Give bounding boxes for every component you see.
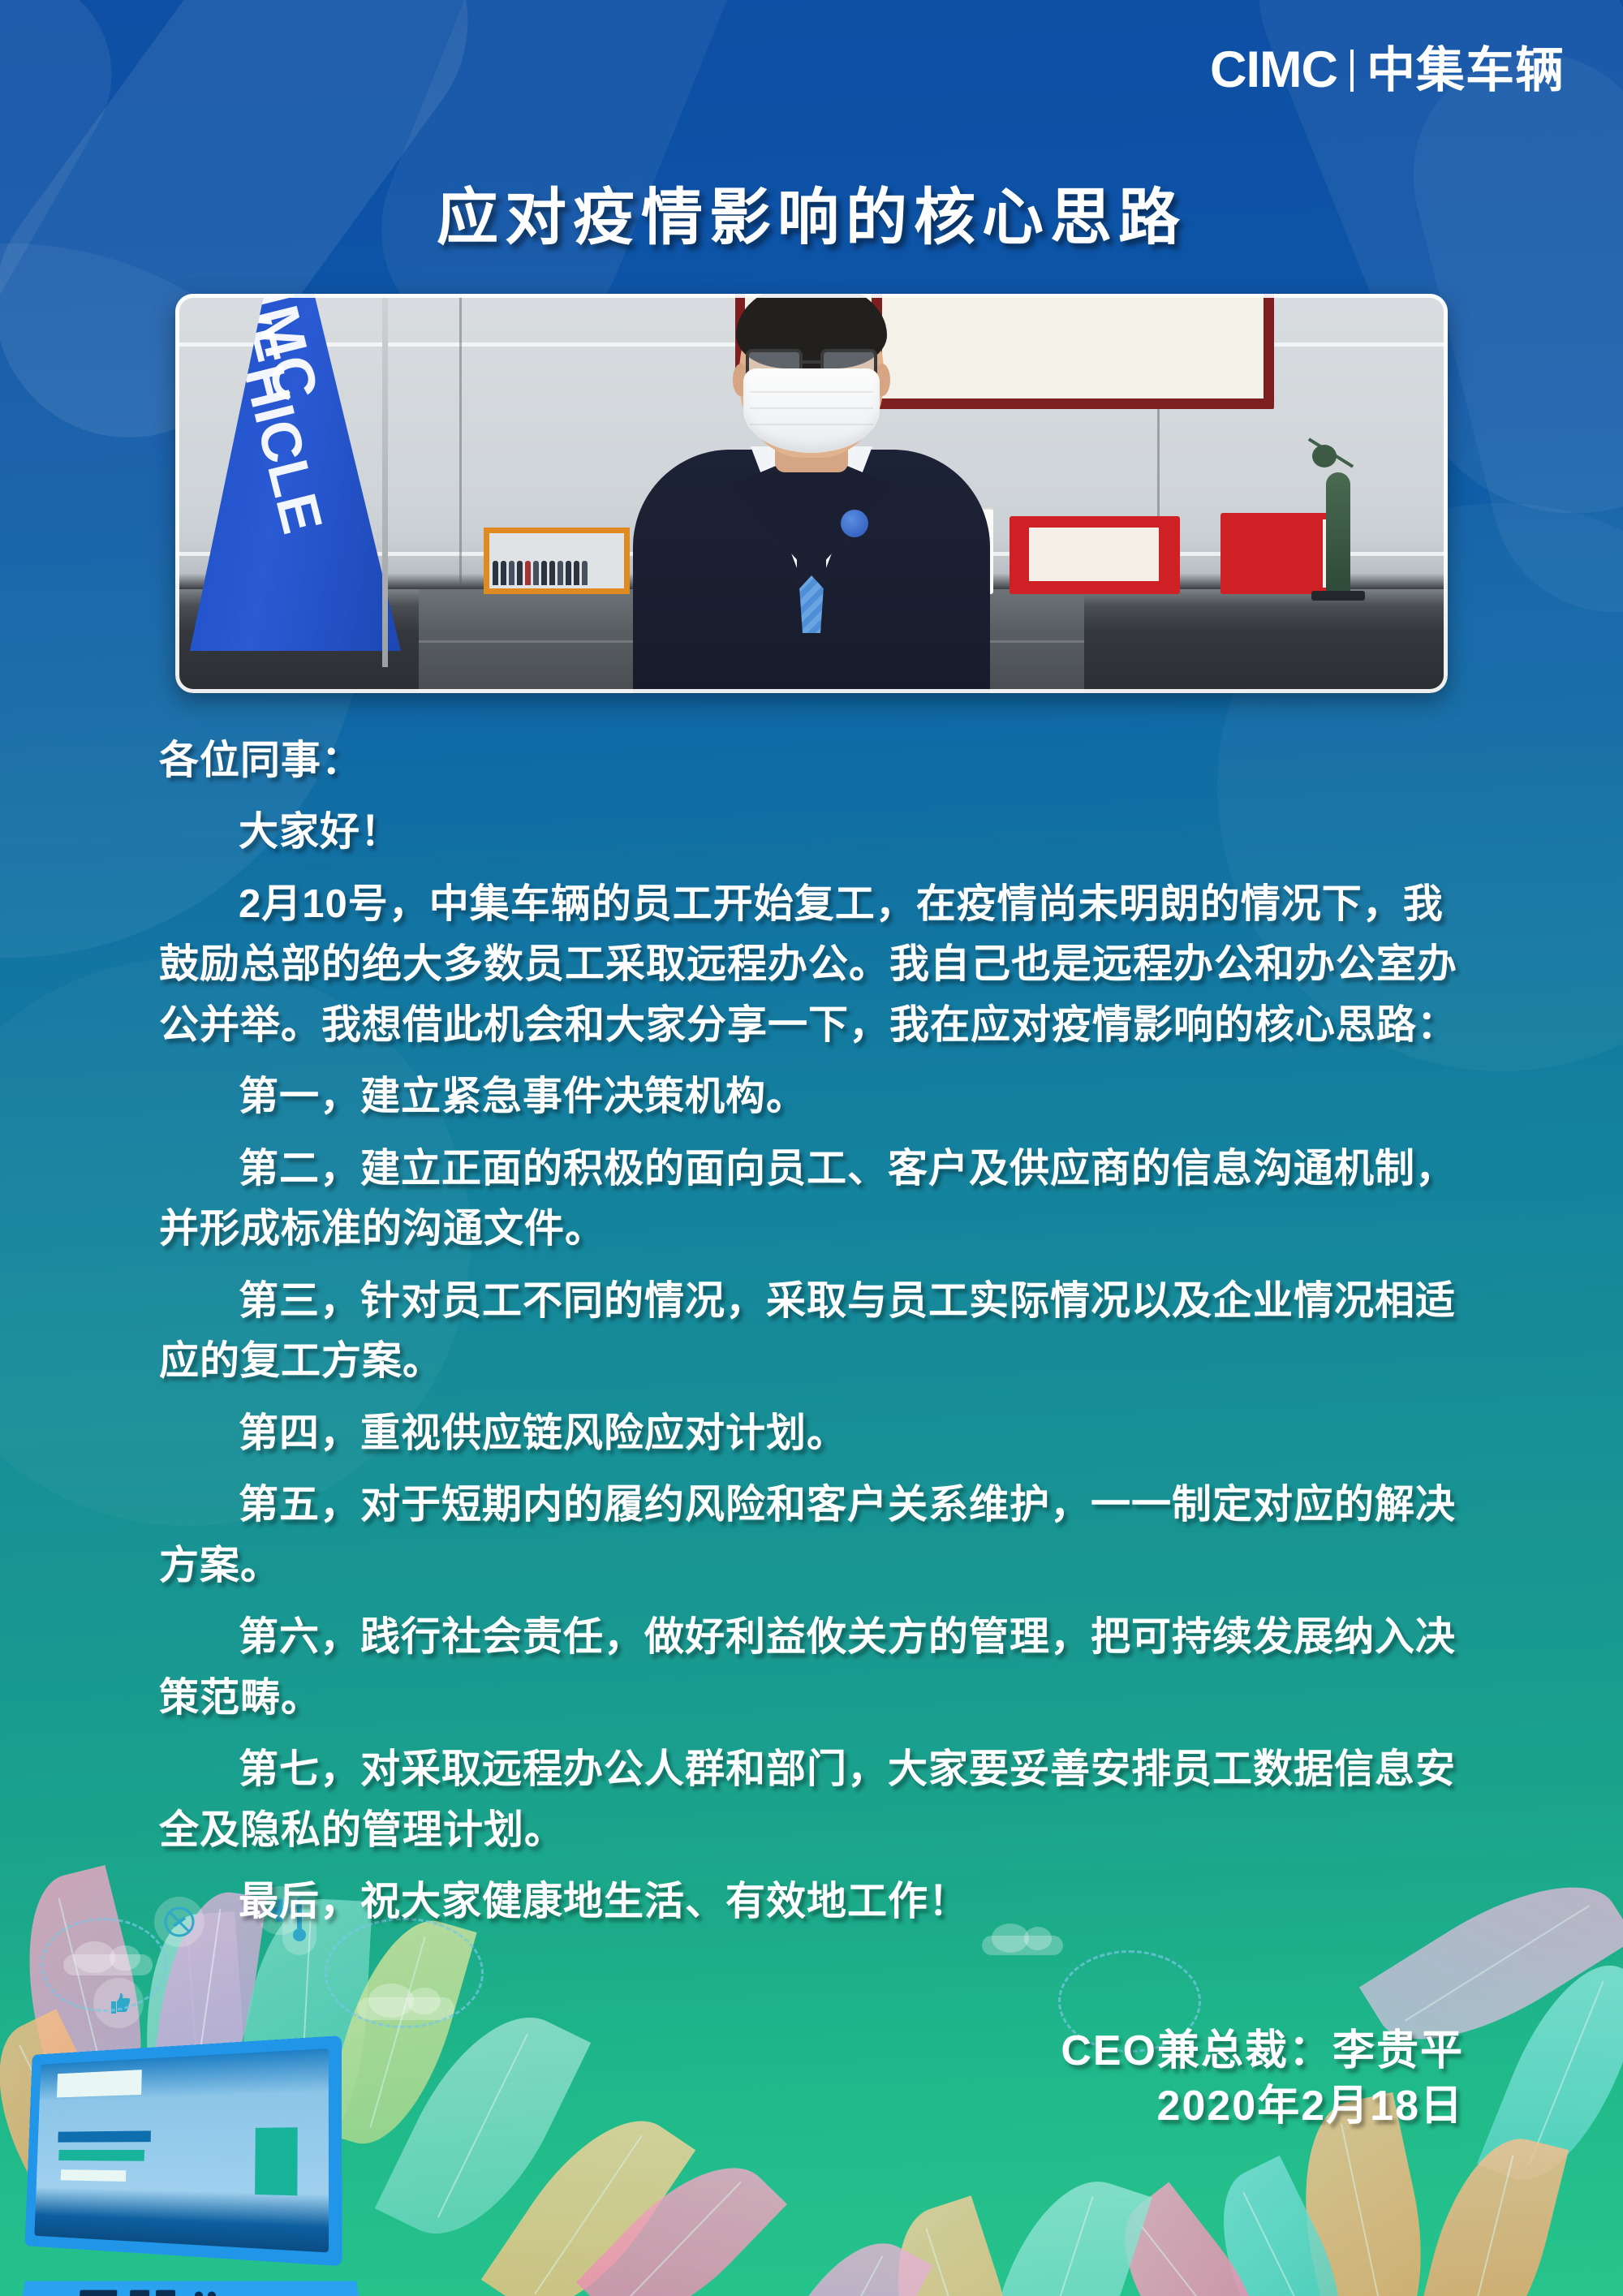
screen-panel-block	[255, 2127, 298, 2195]
cloud-shape-1	[63, 1954, 153, 1975]
leaf-orange-3	[1410, 2125, 1569, 2296]
cloud-shape-2	[357, 1997, 454, 2020]
group-photo-people	[493, 561, 588, 585]
letter-point-4: 第四，重视供应链风险应对计划。	[159, 1403, 1474, 1463]
laptop-screen-content	[34, 2048, 329, 2253]
leaf-teal-6	[974, 2162, 1152, 2296]
letter-point-7: 第七，对采取远程办公人群和部门，大家要妥善安排员工数据信息安全及隐私的管理计划。	[159, 1739, 1474, 1860]
leaf-pink-2	[576, 2136, 787, 2296]
letter-point-1: 第一，建立紧急事件决策机构。	[159, 1066, 1474, 1126]
page-title: 应对疫情影响的核心思路	[0, 167, 1623, 256]
letter-point-2: 第二，建立正面的积极的面向员工、客户及供应商的信息沟通机制，并形成标准的沟通文件…	[159, 1139, 1474, 1260]
screen-line-3	[61, 2169, 127, 2182]
screen-title-bar	[57, 2070, 142, 2097]
leaf-tan-2	[871, 2195, 1036, 2296]
leaf-teal-5	[1192, 2156, 1372, 2296]
letter-closing: 最后，祝大家健康地生活、有效地工作！	[159, 1872, 1474, 1932]
statue-body	[1326, 472, 1350, 594]
letter-greeting: 大家好！	[159, 802, 1474, 862]
laptop-illustration	[8, 2044, 357, 2296]
leaf-pink-1	[2, 1865, 168, 2143]
laptop-dot-2	[208, 2291, 216, 2296]
laptop-key-2	[130, 2290, 149, 2296]
flag-pole	[382, 294, 388, 667]
mask-pleat-2	[750, 407, 873, 409]
leaf-lime-1	[318, 1906, 476, 2159]
leaf-teal-1	[138, 1911, 252, 2161]
certificate-inner-page	[1029, 528, 1159, 581]
suit-jacket	[633, 450, 990, 693]
letter-point-6: 第六，践行社会责任，做好利益攸关方的管理，把可持续发展纳入决策范畴。	[159, 1607, 1474, 1728]
thumbs-up-icon	[93, 1978, 144, 2028]
group-photo-image	[489, 533, 624, 588]
cimc-logo: CIMC 中集车辆	[1210, 45, 1565, 96]
signature-block: CEO兼总裁：李贵平 2020年2月18日	[1061, 2024, 1464, 2134]
statue-head	[1312, 445, 1337, 467]
wall-seam-left	[459, 294, 462, 586]
laptop-key-1	[80, 2290, 118, 2296]
leaf-lavender-3	[756, 2220, 933, 2296]
leaf-pink-3	[1092, 2182, 1294, 2296]
leaf-orange-1	[0, 2009, 145, 2234]
golfer-statue	[1313, 442, 1363, 594]
ceo-photo: CIMC VEHICLE	[175, 294, 1448, 693]
laptop-base	[20, 2281, 360, 2296]
leaf-tan-1	[481, 2091, 695, 2296]
screen-line-1	[58, 2130, 151, 2142]
laptop-dot-1	[195, 2291, 203, 2296]
logo-wordmark-en: CIMC	[1210, 45, 1337, 96]
signature-date: 2020年2月18日	[1061, 2079, 1464, 2134]
face-mask	[743, 368, 880, 453]
statue-base	[1311, 591, 1365, 601]
leaf-teal-3	[375, 1989, 591, 2261]
letter-body: 各位同事： 大家好！ 2月10号，中集车辆的员工开始复工，在疫情尚未明朗的情况下…	[159, 730, 1474, 1943]
laptop-screen	[25, 2035, 342, 2266]
mask-pleat-1	[750, 391, 873, 393]
face	[739, 294, 884, 458]
laptop-key-3	[156, 2290, 175, 2296]
screen-line-2	[58, 2150, 144, 2161]
ceo-figure	[621, 336, 1002, 693]
letter-intro: 2月10号，中集车辆的员工开始复工，在疫情尚未明朗的情况下，我鼓励总部的绝大多数…	[159, 874, 1474, 1055]
desk-certificate-red	[1010, 516, 1180, 594]
letter-salutation: 各位同事：	[159, 730, 1474, 790]
signature-name: CEO兼总裁：李贵平	[1061, 2024, 1464, 2079]
letter-point-3: 第三，针对员工不同的情况，采取与员工实际情况以及企业情况相适应的复工方案。	[159, 1271, 1474, 1392]
poster-root: CIMC 中集车辆 应对疫情影响的核心思路 CIMC VEHICLE	[0, 0, 1623, 2296]
logo-wordmark-cn: 中集车辆	[1367, 46, 1565, 95]
logo-divider	[1350, 50, 1354, 92]
lapel-pin	[841, 510, 868, 537]
leaf-teal-4	[1477, 1945, 1623, 2200]
letter-point-5: 第五，对于短期内的履约风险和客户关系维护，一一制定对应的解决方案。	[159, 1475, 1474, 1596]
desk-group-photo-frame	[484, 528, 630, 594]
mask-pleat-3	[750, 424, 873, 425]
dashed-loop-1	[41, 1918, 167, 2012]
